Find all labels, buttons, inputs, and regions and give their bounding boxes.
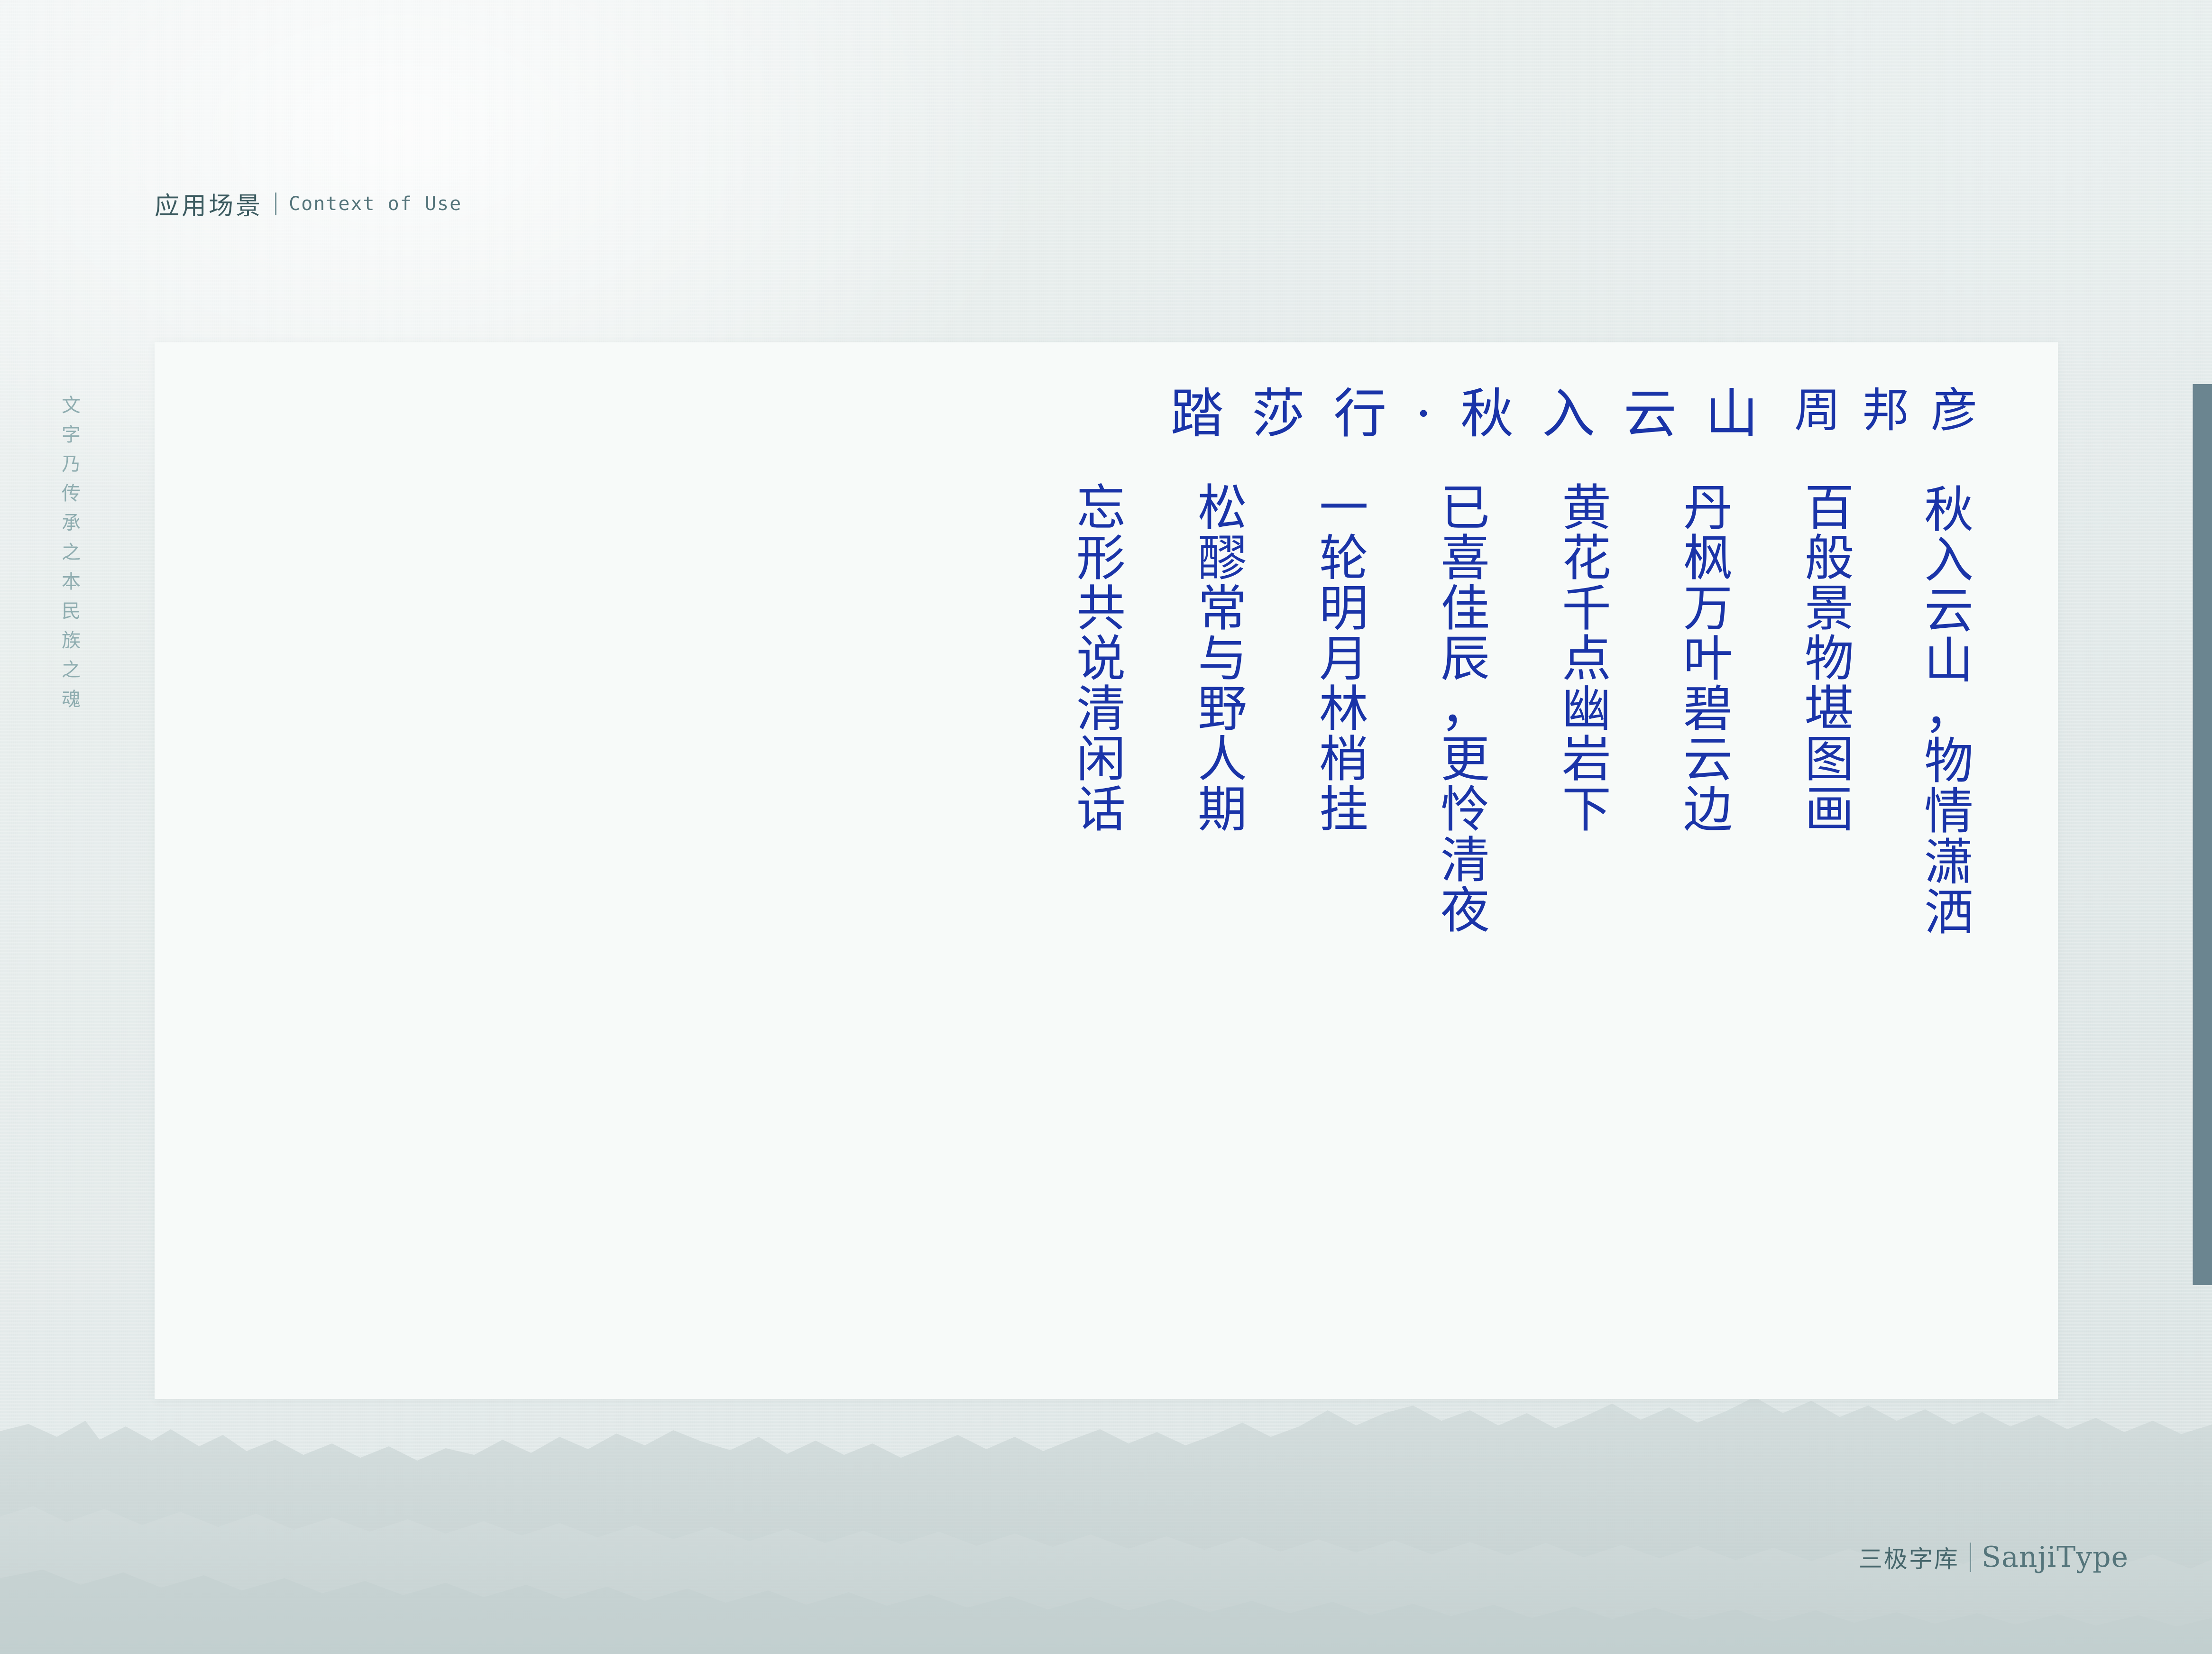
tagline-char: 魂 <box>62 690 81 709</box>
brand-name-en: SanjiType <box>1982 1541 2129 1574</box>
tagline-char: 本 <box>62 572 81 591</box>
tagline-char: 之 <box>62 661 81 680</box>
poem-title-char: 行 <box>1333 387 1386 441</box>
poem-title-char: 秋 <box>1460 387 1514 441</box>
tagline-char: 字 <box>62 425 81 444</box>
poem-line-8: 忘 形 共 说 清 闲 话 <box>1076 483 1126 835</box>
poem-title-char: 云 <box>1624 387 1677 441</box>
tagline-char: 传 <box>62 484 81 503</box>
tagline-char: 民 <box>62 602 81 621</box>
page-header: 应用场景 Context of Use <box>155 186 462 221</box>
poem-line-2: 百 般 景 物 堪 图 画 <box>1805 483 1854 835</box>
scrollbar-track[interactable] <box>2192 0 2212 1654</box>
poem-title-char: 山 <box>1705 387 1758 441</box>
vertical-tagline: 文 字 乃 传 承 之 本 民 族 之 魂 <box>62 396 81 719</box>
poem-line-1: 秋 入 云 山 ， 物 情 潇 洒 <box>1924 485 1973 937</box>
tagline-char: 承 <box>62 514 81 533</box>
poem-title: 山 云 入 秋 · 行 莎 踏 <box>1170 387 1758 441</box>
page-title-zh: 应用场景 <box>155 186 263 221</box>
page-title-en: Context of Use <box>289 193 462 215</box>
brand-divider <box>1970 1543 1971 1572</box>
tagline-char: 乃 <box>62 455 81 474</box>
poem-title-char: 入 <box>1542 387 1595 441</box>
poem-line-3: 丹 枫 万 叶 碧 云 边 <box>1683 483 1733 835</box>
brand-name-zh: 三极字库 <box>1859 1540 1959 1574</box>
scrollbar-thumb[interactable] <box>2193 384 2212 1285</box>
poem-line-4: 黄 花 千 点 幽 岩 下 <box>1562 483 1611 835</box>
tagline-char: 族 <box>62 631 81 650</box>
poem-line-5: 已 喜 佳 辰 ， 更 怜 清 夜 <box>1441 483 1490 936</box>
poem-title-char: 踏 <box>1170 387 1223 441</box>
poem-line-6: 一 轮 明 月 林 梢 挂 <box>1319 483 1368 835</box>
specimen-card: 彦 邦 周 秋 入 云 山 ， 物 情 潇 洒 百 般 景 物 堪 图 <box>155 342 2058 1399</box>
poem-title-char: 莎 <box>1252 387 1305 441</box>
poem-columns: 秋 入 云 山 ， 物 情 潇 洒 百 般 景 物 堪 图 画 丹 枫 万 叶 … <box>155 342 2058 1399</box>
tagline-char: 文 <box>62 396 81 415</box>
brand-logo: 三极字库 SanjiType <box>1859 1540 2129 1574</box>
poem-title-separator: · <box>1415 387 1432 441</box>
header-divider <box>275 193 276 215</box>
tagline-char: 之 <box>62 543 81 562</box>
poem-line-7: 松 醪 常 与 野 人 期 <box>1198 483 1247 835</box>
